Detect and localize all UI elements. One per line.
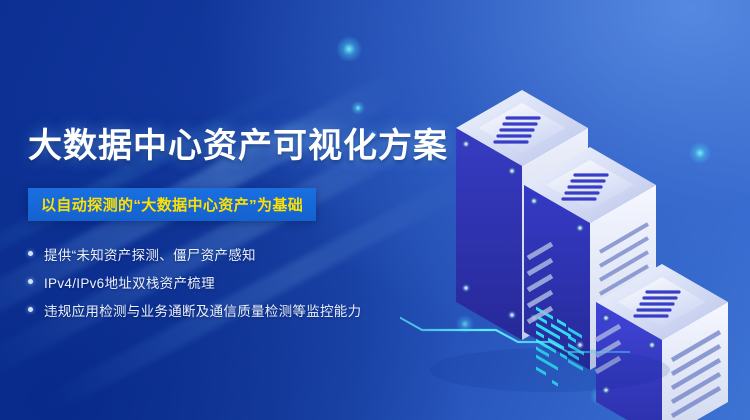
bullet-dot-icon: [28, 307, 33, 312]
list-item-label: 提供“未知资产探测、僵尸资产感知: [44, 244, 256, 264]
subtitle-text: 以自动探测的“大数据中心资产”为基础: [41, 194, 303, 215]
list-item: 违规应用检测与业务通断及通信质量检测等监控能力: [28, 296, 408, 323]
list-item-label: IPv4/IPv6地址双栈资产梳理: [44, 272, 215, 292]
glow-dot: [336, 36, 362, 62]
list-item: 提供“未知资产探测、僵尸资产感知: [28, 240, 408, 267]
page-title: 大数据中心资产可视化方案: [28, 126, 448, 166]
server-rack-illustration: [400, 40, 750, 420]
marketing-banner: 大数据中心资产可视化方案 以自动探测的“大数据中心资产”为基础 提供“未知资产探…: [0, 0, 750, 420]
list-item: IPv4/IPv6地址双栈资产梳理: [28, 268, 408, 295]
feature-bullet-list: 提供“未知资产探测、僵尸资产感知 IPv4/IPv6地址双栈资产梳理 违规应用检…: [28, 240, 408, 324]
subtitle-banner: 以自动探测的“大数据中心资产”为基础: [28, 188, 316, 221]
glow-dot: [351, 101, 365, 115]
list-item-label: 违规应用检测与业务通断及通信质量检测等监控能力: [44, 300, 361, 320]
bullet-dot-icon: [28, 251, 33, 256]
bullet-dot-icon: [28, 279, 33, 284]
